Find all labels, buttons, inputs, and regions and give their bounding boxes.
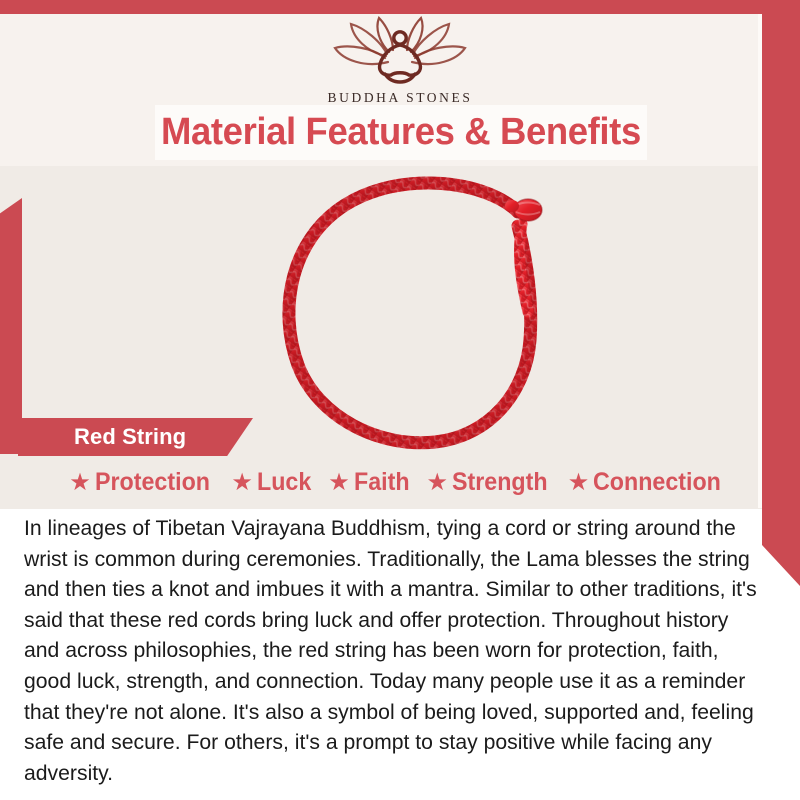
top-accent-band: [0, 0, 800, 14]
star-icon: ★: [426, 471, 448, 495]
benefit-label: Strength: [452, 468, 548, 497]
product-feature-infographic: BUDDHA STONES Material Features & Benefi…: [0, 0, 800, 800]
ribbon-label-text: Red String: [74, 424, 186, 450]
star-icon: ★: [328, 471, 350, 495]
benefit-item-strength: ★ Strength: [426, 468, 554, 497]
star-icon: ★: [231, 471, 253, 495]
red-string-ribbon-label: Red String: [18, 418, 253, 456]
benefit-item-luck: ★ Luck: [231, 468, 315, 497]
page-title: Material Features & Benefits: [161, 111, 641, 154]
benefit-label: Luck: [257, 468, 311, 497]
lotus-meditation-figure-icon: [0, 16, 800, 88]
benefit-label: Connection: [593, 468, 721, 497]
description-paragraph: In lineages of Tibetan Vajrayana Buddhis…: [24, 513, 769, 788]
title-banner: Material Features & Benefits: [155, 105, 647, 160]
star-icon: ★: [69, 471, 91, 495]
benefit-item-protection: ★ Protection: [69, 468, 218, 497]
benefit-item-faith: ★ Faith: [328, 468, 413, 497]
benefit-label: Faith: [354, 468, 410, 497]
left-accent-bar: [0, 198, 22, 454]
product-image-red-braided-string-bracelet: [250, 160, 580, 460]
brand-name: BUDDHA STONES: [0, 90, 800, 106]
star-icon: ★: [568, 471, 590, 495]
benefit-label: Protection: [95, 468, 210, 497]
benefits-list: ★ Protection ★ Luck ★ Faith ★ Strength ★…: [22, 468, 778, 497]
benefit-item-connection: ★ Connection: [568, 468, 731, 497]
brand-logo: BUDDHA STONES: [0, 16, 800, 106]
